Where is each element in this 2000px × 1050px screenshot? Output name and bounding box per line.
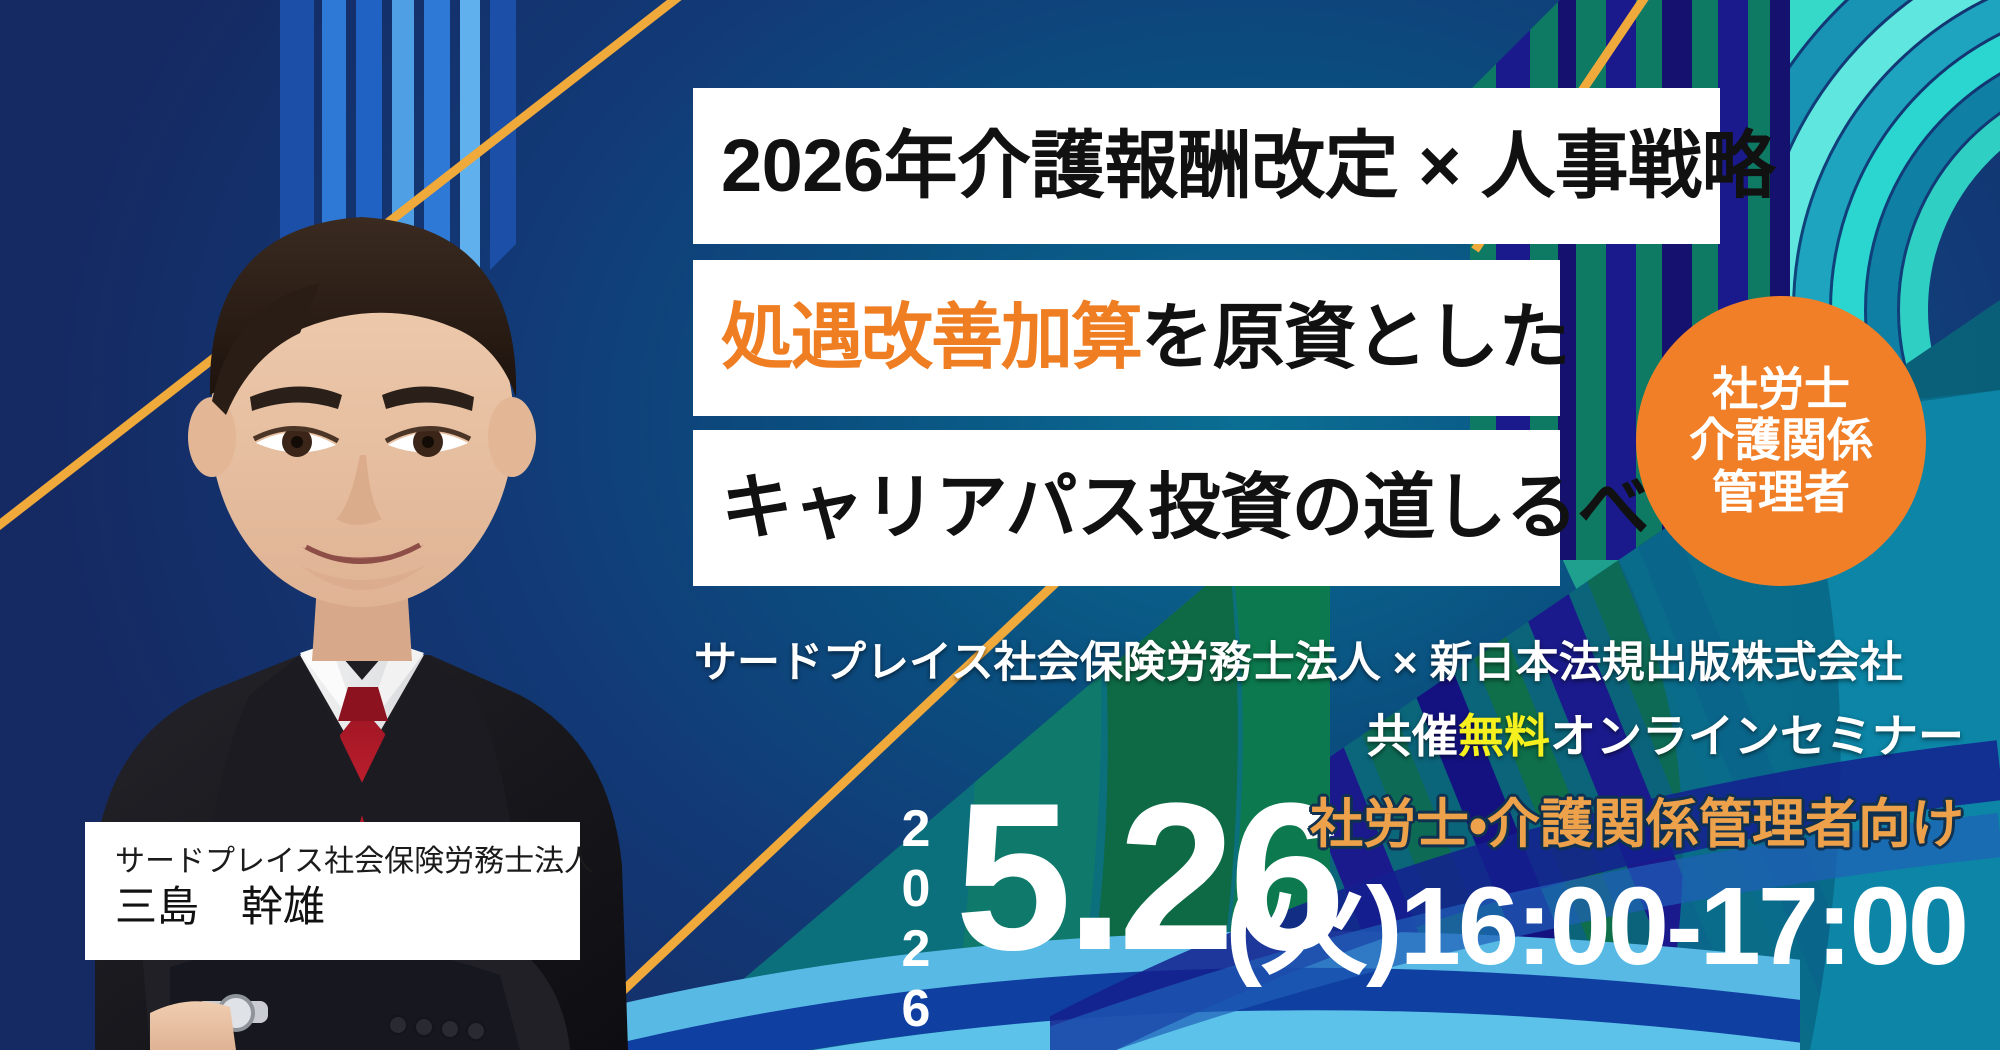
title-box-line3: キャリアパス投資の道しるべ [693, 430, 1560, 586]
free-label: 無料 [1458, 710, 1550, 762]
audience-badge-line2: 介護関係 [1689, 415, 1873, 467]
title-highlight-shoguu: 処遇改善加算 [721, 298, 1141, 378]
title-line-1: 2026年介護報酬改定 × 人事戦略 [721, 129, 1775, 203]
title-line-2: 処遇改善加算を原資とした [721, 302, 1570, 374]
seminar-banner: 2026年介護報酬改定 × 人事戦略 処遇改善加算を原資とした キャリアパス投資… [0, 0, 2000, 1050]
speaker-name-plate: サードプレイス社会保険労務士法人 三島 幹雄 [85, 822, 580, 960]
speaker-name: 三島 幹雄 [115, 880, 554, 935]
host-free-seminar-line: 共催無料オンラインセミナー [1366, 700, 1964, 766]
title-box-line1: 2026年介護報酬改定 × 人事戦略 [693, 88, 1720, 244]
host-organizations: サードプレイス社会保険労務士法人 × 新日本法規出版株式会社 [694, 628, 1903, 690]
audience-badge-line1: 社労士 [1712, 364, 1850, 416]
weekday-and-time: (火)16:00-17:00 [1225, 872, 1966, 982]
coheld-label: 共催 [1366, 710, 1458, 762]
weekday: (火) [1225, 865, 1399, 988]
audience-badge-line3: 管理者 [1712, 467, 1850, 519]
audience-target-strip: 社労士・介護関係管理者向け [1310, 798, 1964, 851]
time-range: 16:00-17:00 [1400, 865, 1966, 988]
audience-badge: 社労士 介護関係 管理者 [1636, 296, 1926, 586]
title-line2-rest: を原資とした [1141, 298, 1570, 378]
title-box-line2: 処遇改善加算を原資とした [693, 260, 1560, 416]
speaker-organization: サードプレイス社会保険労務士法人 [115, 843, 554, 881]
seminar-type-label: オンラインセミナー [1550, 710, 1964, 762]
title-line-3: キャリアパス投資の道しるべ [721, 472, 1649, 544]
year-vertical: 2026 [890, 800, 942, 1040]
